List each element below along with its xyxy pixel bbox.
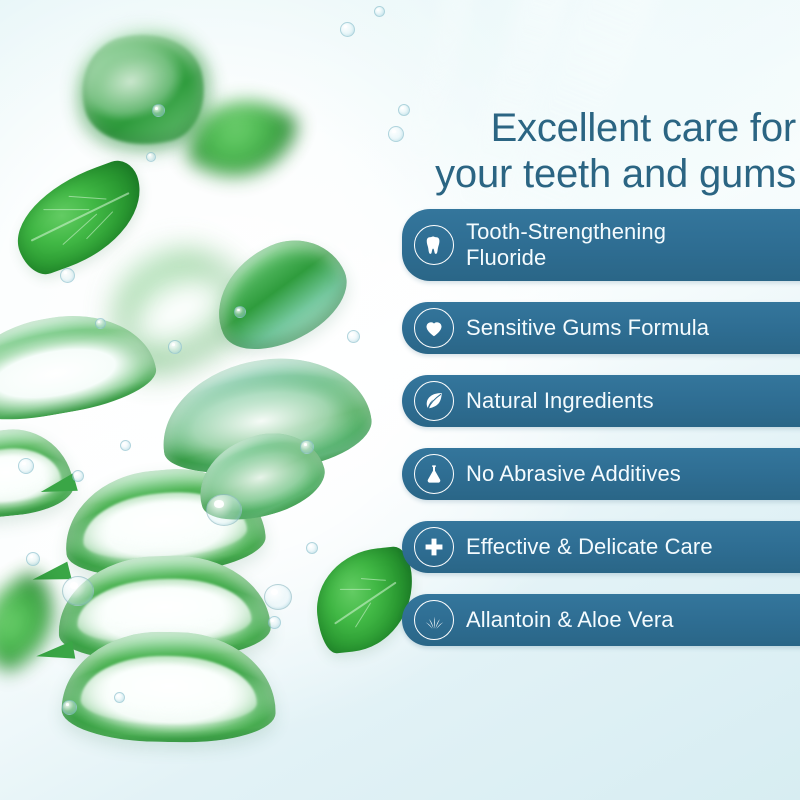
mint-vein: [86, 212, 113, 240]
feature-label: No Abrasive Additives: [466, 461, 687, 487]
mint-vein: [44, 209, 90, 210]
headline-line-2: your teeth and gums: [366, 151, 796, 197]
aloe-tip: [38, 473, 78, 500]
mint-vein: [334, 581, 397, 624]
bubble: [95, 318, 106, 329]
infographic-canvas: Excellent care for your teeth and gums T…: [0, 0, 800, 800]
mint-leaf-left: [2, 155, 159, 280]
bubble: [300, 440, 314, 454]
bubble: [120, 440, 131, 451]
aloe-tip: [30, 562, 71, 589]
flask-icon: [414, 454, 454, 494]
feature-label-line-2: Fluoride: [466, 245, 546, 270]
aloe-plant-icon: [414, 600, 454, 640]
feature-label: Effective & Delicate Care: [466, 534, 719, 560]
bubble: [374, 6, 385, 17]
page-title: Excellent care for your teeth and gums: [366, 105, 796, 198]
mint-leaf-blurred: [182, 80, 302, 198]
headline-line-1: Excellent care for: [366, 105, 796, 151]
aloe-slice-stack-bottom: [61, 630, 277, 744]
bubble: [26, 552, 40, 566]
bubble: [340, 22, 355, 37]
aloe-blade-center: [153, 346, 377, 486]
bubble: [168, 340, 182, 354]
aloe-slice-blurred: [64, 14, 221, 163]
aloe-slice-stack-middle: [56, 552, 272, 663]
aloe-tip: [35, 641, 76, 665]
bubble: [347, 330, 360, 343]
bubble: [146, 152, 156, 162]
feature-item-tooth-strengthening-fluoride[interactable]: Tooth-Strengthening Fluoride: [402, 209, 800, 281]
mint-vein: [30, 193, 129, 242]
feature-label: Natural Ingredients: [466, 388, 660, 414]
mint-vein: [340, 589, 371, 590]
mint-vein: [68, 196, 106, 200]
feature-item-no-abrasive-additives[interactable]: No Abrasive Additives: [402, 448, 800, 500]
water-drop-bubble: [206, 494, 242, 526]
feature-item-allantoin-aloe-vera[interactable]: Allantoin & Aloe Vera: [402, 594, 800, 646]
aloe-slice-upper-right: [198, 222, 361, 365]
medical-cross-icon: [414, 527, 454, 567]
feature-label: Allantoin & Aloe Vera: [466, 607, 680, 633]
bubble: [62, 700, 77, 715]
feature-label: Sensitive Gums Formula: [466, 315, 715, 341]
tooth-icon: [414, 225, 454, 265]
aloe-slice-left-mid: [0, 301, 161, 430]
feature-item-sensitive-gums-formula[interactable]: Sensitive Gums Formula: [402, 302, 800, 354]
feature-item-effective-delicate-care[interactable]: Effective & Delicate Care: [402, 521, 800, 573]
aloe-slice-stack-top: [60, 461, 268, 582]
water-drop-bubble: [62, 576, 94, 606]
bubble: [268, 616, 281, 629]
mint-vein: [62, 214, 97, 246]
bubble: [72, 470, 84, 482]
aloe-slice-top-left: [70, 21, 215, 159]
bubble: [114, 692, 125, 703]
aloe-slice-blurred: [91, 226, 262, 385]
leaf-icon: [414, 381, 454, 421]
water-drop-bubble: [264, 584, 292, 610]
feature-list: Tooth-Strengthening Fluoride Sensitive G…: [402, 209, 800, 667]
bubble: [152, 104, 165, 117]
heart-icon: [414, 308, 454, 348]
aloe-slice-far-left: [0, 423, 76, 522]
mint-vein: [361, 578, 386, 581]
aloe-slice-over-stack: [187, 420, 332, 532]
mint-leaf-blurred: [0, 568, 75, 676]
bubble: [234, 306, 246, 318]
feature-label: Tooth-Strengthening Fluoride: [466, 219, 672, 270]
bubble: [60, 268, 75, 283]
bubble: [18, 458, 34, 474]
feature-item-natural-ingredients[interactable]: Natural Ingredients: [402, 375, 800, 427]
bubble: [306, 542, 318, 554]
feature-label-line-1: Tooth-Strengthening: [466, 219, 666, 244]
mint-vein: [355, 602, 372, 628]
